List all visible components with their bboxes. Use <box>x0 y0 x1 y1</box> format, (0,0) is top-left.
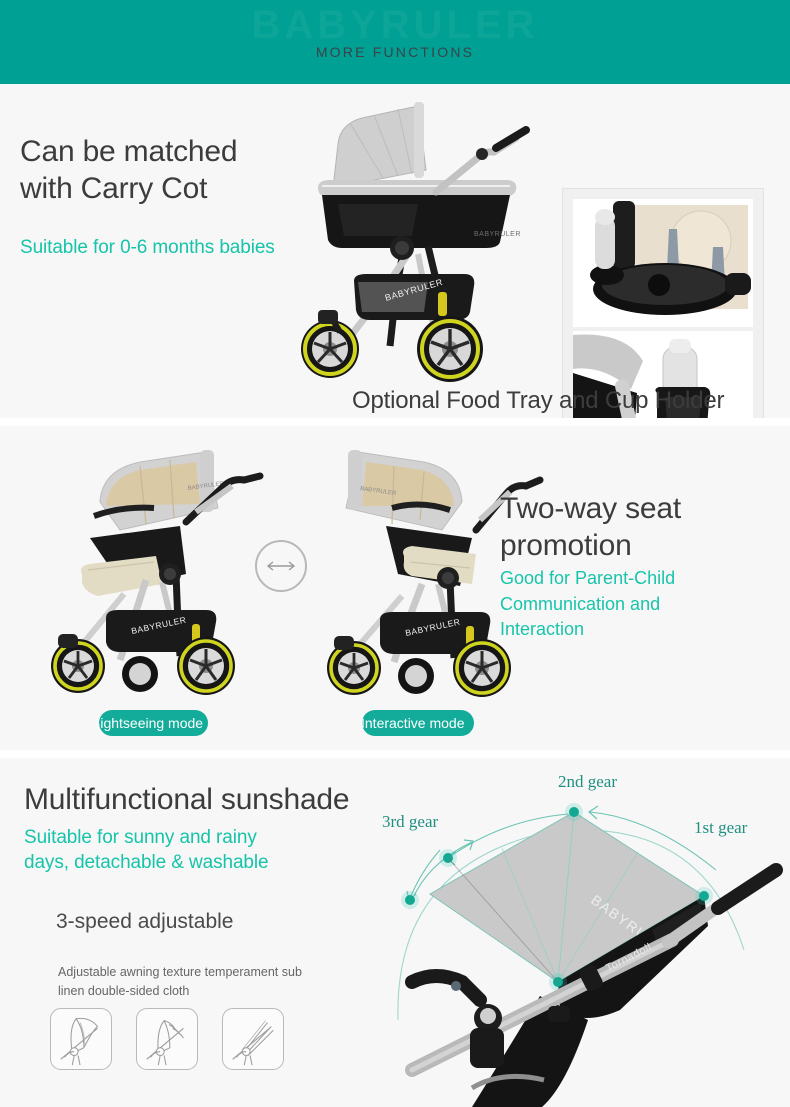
stroller-with-carrycot-image: BABYRULER BABYRULER <box>278 96 558 396</box>
section1-heading: Can be matched with Carry Cot <box>20 134 320 208</box>
section2-subtitle-line2: Communication and <box>500 592 755 618</box>
section3-subtitle-line2: days, detachable & washable <box>24 851 344 876</box>
section3-heading: Multifunctional sunshade <box>24 782 349 819</box>
section3-description-line1: Adjustable awning texture temperament su… <box>58 963 388 982</box>
canopy-position-3-icon <box>222 1008 284 1070</box>
section1-heading-line2: with Carry Cot <box>20 171 320 208</box>
banner-watermark-text: BABYRULER <box>0 2 790 48</box>
sunshade-gear-diagram: BABYRULER Tornadoll <box>352 770 790 1107</box>
section-carry-cot: Can be matched with Carry Cot Suitable f… <box>0 84 790 418</box>
badge-sightseeing-mode-label: Sightseeing mode <box>99 710 203 736</box>
canopy-position-2-icon <box>136 1008 198 1070</box>
two-way-arrow-icon <box>255 540 307 592</box>
badge-interactive-mode: Interactive mode <box>362 710 474 736</box>
section2-subtitle-line3: Interaction <box>500 617 755 643</box>
badge-interactive-mode-label: Interactive mode <box>362 710 465 736</box>
section3-subtitle: Suitable for sunny and rainy days, detac… <box>24 826 344 875</box>
svg-text:BABYRULER: BABYRULER <box>474 231 521 238</box>
section3-description-line2: linen double-sided cloth <box>58 982 388 1001</box>
accessory-photo-frame <box>562 188 764 418</box>
section1-caption: Optional Food Tray and Cup Holder <box>352 387 724 415</box>
canopy-position-icon-row <box>50 1008 284 1070</box>
section-two-way-seat: BABYRULER BABYRULER <box>0 426 790 750</box>
section2-heading: Two-way seat promotion <box>500 491 790 565</box>
canopy-position-1-icon <box>50 1008 112 1070</box>
section3-description: Adjustable awning texture temperament su… <box>58 963 388 1002</box>
badge-sightseeing-mode: Sightseeing mode <box>99 710 208 736</box>
section2-subtitle: Good for Parent-Child Communication and … <box>500 566 755 643</box>
banner-title: MORE FUNCTIONS <box>0 44 790 60</box>
section2-heading-line2: promotion <box>500 528 790 565</box>
food-tray-photo <box>573 199 753 327</box>
section2-heading-line1: Two-way seat <box>500 491 790 528</box>
section3-subtitle-line1: Suitable for sunny and rainy <box>24 826 344 851</box>
section2-subtitle-line1: Good for Parent-Child <box>500 566 755 592</box>
more-functions-banner: BABYRULER MORE FUNCTIONS <box>0 0 790 84</box>
section3-speed-heading: 3-speed adjustable <box>56 910 233 934</box>
stroller-sightseeing-mode-image: BABYRULER BABYRULER <box>28 434 278 706</box>
section1-heading-line1: Can be matched <box>20 134 320 171</box>
product-detail-page: BABYRULER MORE FUNCTIONS Can be matched … <box>0 0 790 1107</box>
